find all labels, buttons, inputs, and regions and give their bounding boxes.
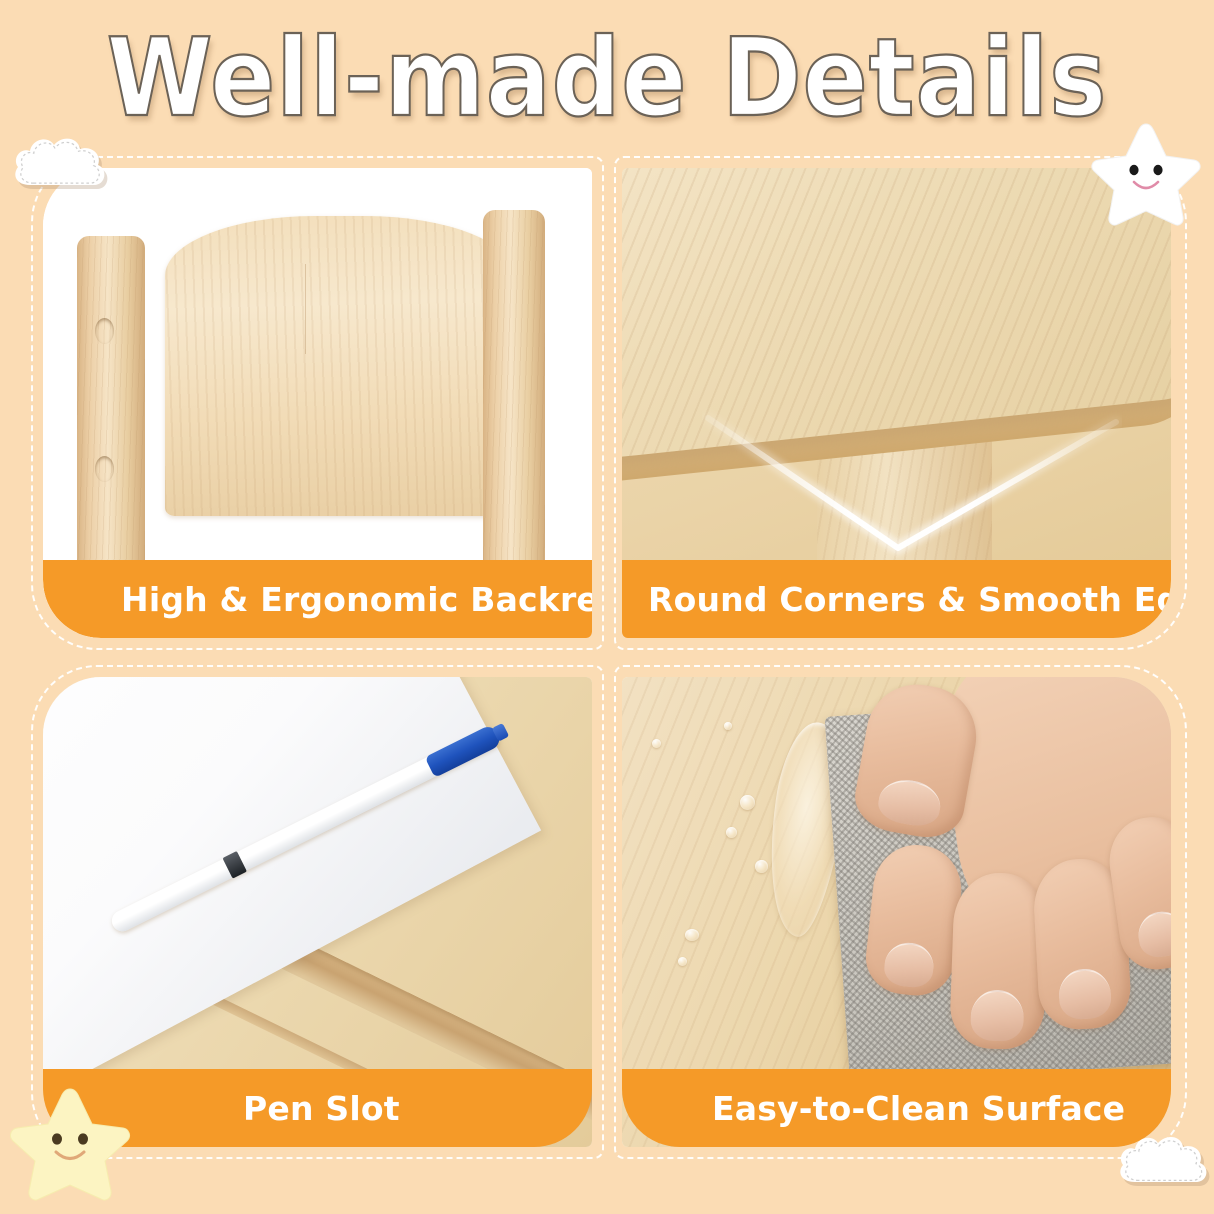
caption-text: Pen Slot (243, 1089, 400, 1128)
infographic-canvas: Well-made Details High & Ergonomic Backr… (0, 0, 1214, 1214)
feature-panel-easy-clean[interactable]: Easy-to-Clean Surface (622, 677, 1171, 1147)
water-droplet (724, 722, 732, 730)
water-droplet (652, 739, 661, 748)
feature-panel-backrest[interactable]: High & Ergonomic Backrest (43, 168, 592, 638)
panel-caption-corners: Round Corners & Smooth Edges (622, 560, 1171, 638)
dowel-hole-lower (95, 456, 114, 482)
fingernail (882, 940, 936, 989)
fingernail (1058, 968, 1112, 1020)
backrest-board (165, 216, 515, 516)
fingernail (875, 775, 943, 829)
panel-caption-pen-slot: Pen Slot (43, 1069, 592, 1147)
caption-text: High & Ergonomic Backrest (121, 580, 592, 619)
backrest-seam (305, 264, 306, 354)
feature-panel-pen-slot[interactable]: Pen Slot (43, 677, 592, 1147)
water-droplet (678, 957, 687, 966)
feature-panel-corners[interactable]: Round Corners & Smooth Edges (622, 168, 1171, 638)
water-droplet (685, 929, 699, 941)
header: Well-made Details (0, 18, 1214, 138)
page-title: Well-made Details (107, 15, 1108, 140)
fingernail (970, 989, 1024, 1042)
water-droplet (755, 860, 768, 873)
caption-text: Easy-to-Clean Surface (712, 1089, 1125, 1128)
fingernail (1135, 909, 1171, 960)
panel-caption-easy-clean: Easy-to-Clean Surface (622, 1069, 1171, 1147)
water-droplet (740, 795, 755, 810)
panel-caption-backrest: High & Ergonomic Backrest (43, 560, 592, 638)
dowel-hole-upper (95, 318, 114, 344)
water-droplet (726, 827, 737, 838)
star-smile (56, 1152, 84, 1159)
caption-text: Round Corners & Smooth Edges (648, 580, 1171, 619)
